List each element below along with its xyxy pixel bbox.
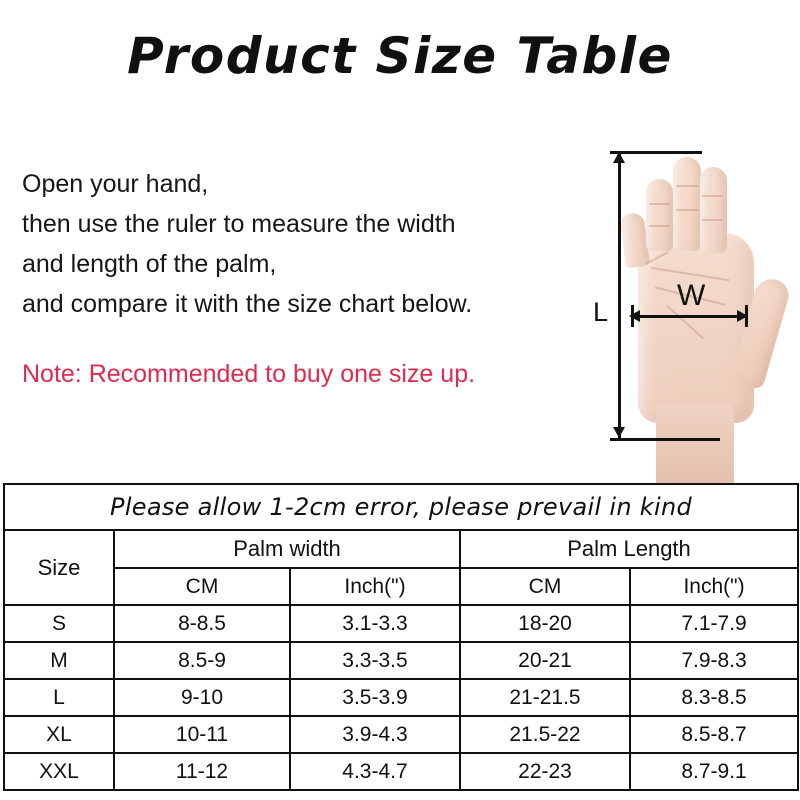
cell-size: XXL — [4, 753, 114, 790]
cell-palm-width-cm: 10-11 — [114, 716, 290, 753]
cell-size: XL — [4, 716, 114, 753]
header-size: Size — [4, 530, 114, 605]
table-row: XL 10-11 3.9-4.3 21.5-22 8.5-8.7 — [4, 716, 798, 753]
cell-palm-length-inch: 7.9-8.3 — [630, 642, 798, 679]
cell-size: S — [4, 605, 114, 642]
instruction-line: and length of the palm, — [22, 244, 562, 284]
header-width-inch: Inch(") — [290, 568, 460, 605]
instruction-line: and compare it with the size chart below… — [22, 284, 562, 324]
cell-palm-length-inch: 7.1-7.9 — [630, 605, 798, 642]
cell-palm-width-inch: 3.3-3.5 — [290, 642, 460, 679]
table-row: S 8-8.5 3.1-3.3 18-20 7.1-7.9 — [4, 605, 798, 642]
cell-palm-width-inch: 4.3-4.7 — [290, 753, 460, 790]
cell-palm-length-cm: 22-23 — [460, 753, 630, 790]
table-row-disclaimer: Please allow 1-2cm error, please prevail… — [4, 484, 798, 530]
instruction-line: then use the ruler to measure the width — [22, 204, 562, 244]
cell-palm-length-cm: 20-21 — [460, 642, 630, 679]
cell-palm-width-inch: 3.9-4.3 — [290, 716, 460, 753]
cell-palm-width-inch: 3.1-3.3 — [290, 605, 460, 642]
knuckle-crease — [676, 185, 698, 187]
cell-palm-length-cm: 21-21.5 — [460, 679, 630, 716]
page-title: Product Size Table — [0, 28, 800, 84]
middle-finger-shape — [673, 157, 701, 251]
instruction-line: Open your hand, — [22, 164, 562, 204]
width-label: W — [677, 281, 705, 311]
knuckle-crease — [649, 225, 670, 227]
cell-palm-width-inch: 3.5-3.9 — [290, 679, 460, 716]
length-arrow-line — [618, 151, 621, 439]
cell-palm-width-cm: 9-10 — [114, 679, 290, 716]
length-bottom-guide-line — [610, 438, 720, 441]
header-palm-length: Palm Length — [460, 530, 798, 568]
table-row: L 9-10 3.5-3.9 21-21.5 8.3-8.5 — [4, 679, 798, 716]
length-label: L — [593, 299, 608, 326]
header-palm-width: Palm width — [114, 530, 460, 568]
header-length-inch: Inch(") — [630, 568, 798, 605]
cell-palm-length-inch: 8.5-8.7 — [630, 716, 798, 753]
cell-palm-length-inch: 8.3-8.5 — [630, 679, 798, 716]
header-width-cm: CM — [114, 568, 290, 605]
knuckle-crease — [676, 209, 698, 211]
arrow-right-icon — [737, 310, 748, 322]
knuckle-crease — [702, 195, 723, 197]
table-row: XXL 11-12 4.3-4.7 22-23 8.7-9.1 — [4, 753, 798, 790]
cell-palm-length-cm: 21.5-22 — [460, 716, 630, 753]
size-chart-page: Product Size Table Open your hand, then … — [0, 0, 800, 800]
arrow-down-icon — [613, 427, 625, 438]
cell-palm-length-cm: 18-20 — [460, 605, 630, 642]
wrist-shape — [656, 403, 734, 487]
cell-size: L — [4, 679, 114, 716]
table-row-unit-headers: CM Inch(") CM Inch(") — [4, 568, 798, 605]
ring-finger-shape — [700, 167, 727, 253]
arrow-up-icon — [613, 152, 625, 163]
cell-palm-width-cm: 8.5-9 — [114, 642, 290, 679]
instruction-block: Open your hand, then use the ruler to me… — [22, 164, 562, 324]
cell-size: M — [4, 642, 114, 679]
knuckle-crease — [702, 219, 723, 221]
cell-palm-width-cm: 11-12 — [114, 753, 290, 790]
knuckle-crease — [649, 203, 670, 205]
table-row: M 8.5-9 3.3-3.5 20-21 7.9-8.3 — [4, 642, 798, 679]
purchase-note: Note: Recommended to buy one size up. — [22, 358, 475, 390]
palm-shape — [638, 233, 754, 423]
arrow-left-icon — [629, 310, 640, 322]
cell-palm-width-cm: 8-8.5 — [114, 605, 290, 642]
hand-measurement-diagram: L W — [585, 135, 800, 485]
table-row-group-headers: Size Palm width Palm Length — [4, 530, 798, 568]
width-arrow-line — [633, 315, 746, 318]
index-finger-shape — [646, 179, 673, 251]
cell-palm-length-inch: 8.7-9.1 — [630, 753, 798, 790]
header-length-cm: CM — [460, 568, 630, 605]
size-chart-table: Please allow 1-2cm error, please prevail… — [3, 483, 799, 791]
disclaimer-cell: Please allow 1-2cm error, please prevail… — [4, 484, 798, 530]
